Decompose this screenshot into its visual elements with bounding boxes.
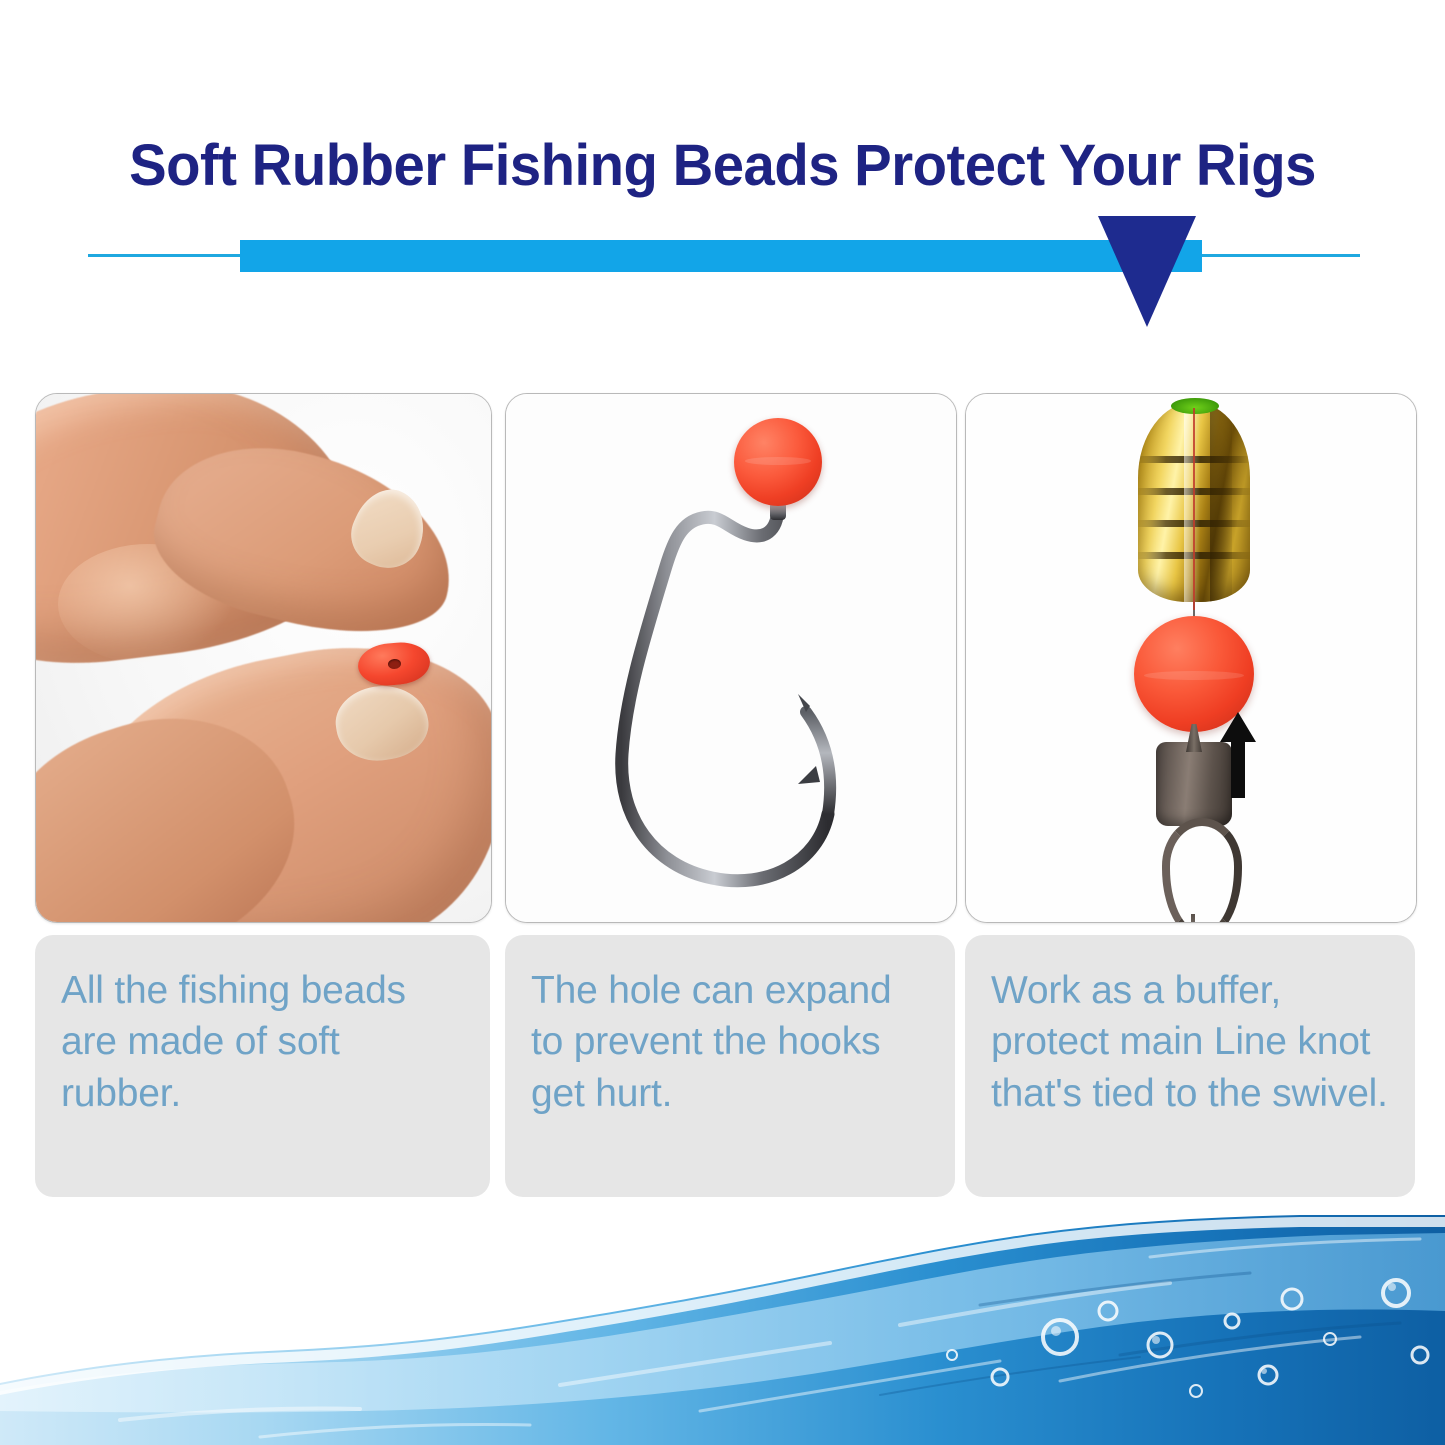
page-title: Soft Rubber Fishing Beads Protect Your R… [22, 132, 1424, 199]
photo-fingers-holding-bead [36, 394, 491, 922]
hook-illustration [506, 394, 956, 922]
photo-card-hook-with-bead [505, 393, 957, 923]
photo-fishing-hook [506, 394, 956, 922]
photo-sinker-bead-swivel [966, 394, 1416, 922]
header-accent-bar [240, 240, 1202, 272]
photo-card-rig-assembly [965, 393, 1417, 923]
infographic-page: Soft Rubber Fishing Beads Protect Your R… [0, 0, 1445, 1445]
red-rubber-bead [734, 418, 822, 506]
photo-card-beads-in-fingers [35, 393, 492, 923]
fishing-line [1193, 408, 1195, 610]
triangle-pointer-icon [1098, 216, 1196, 327]
swivel-loop [1162, 818, 1242, 923]
caption-card-1: All the fishing beads are made of soft r… [35, 935, 490, 1197]
arrow-up-icon [1218, 712, 1258, 798]
water-wave-icon [0, 1215, 1445, 1445]
caption-card-3: Work as a buffer, protect main Line knot… [965, 935, 1415, 1197]
caption-card-2: The hole can expand to prevent the hooks… [505, 935, 955, 1197]
sinker-green-tip [1171, 398, 1219, 414]
water-wave-decoration [0, 1215, 1445, 1445]
